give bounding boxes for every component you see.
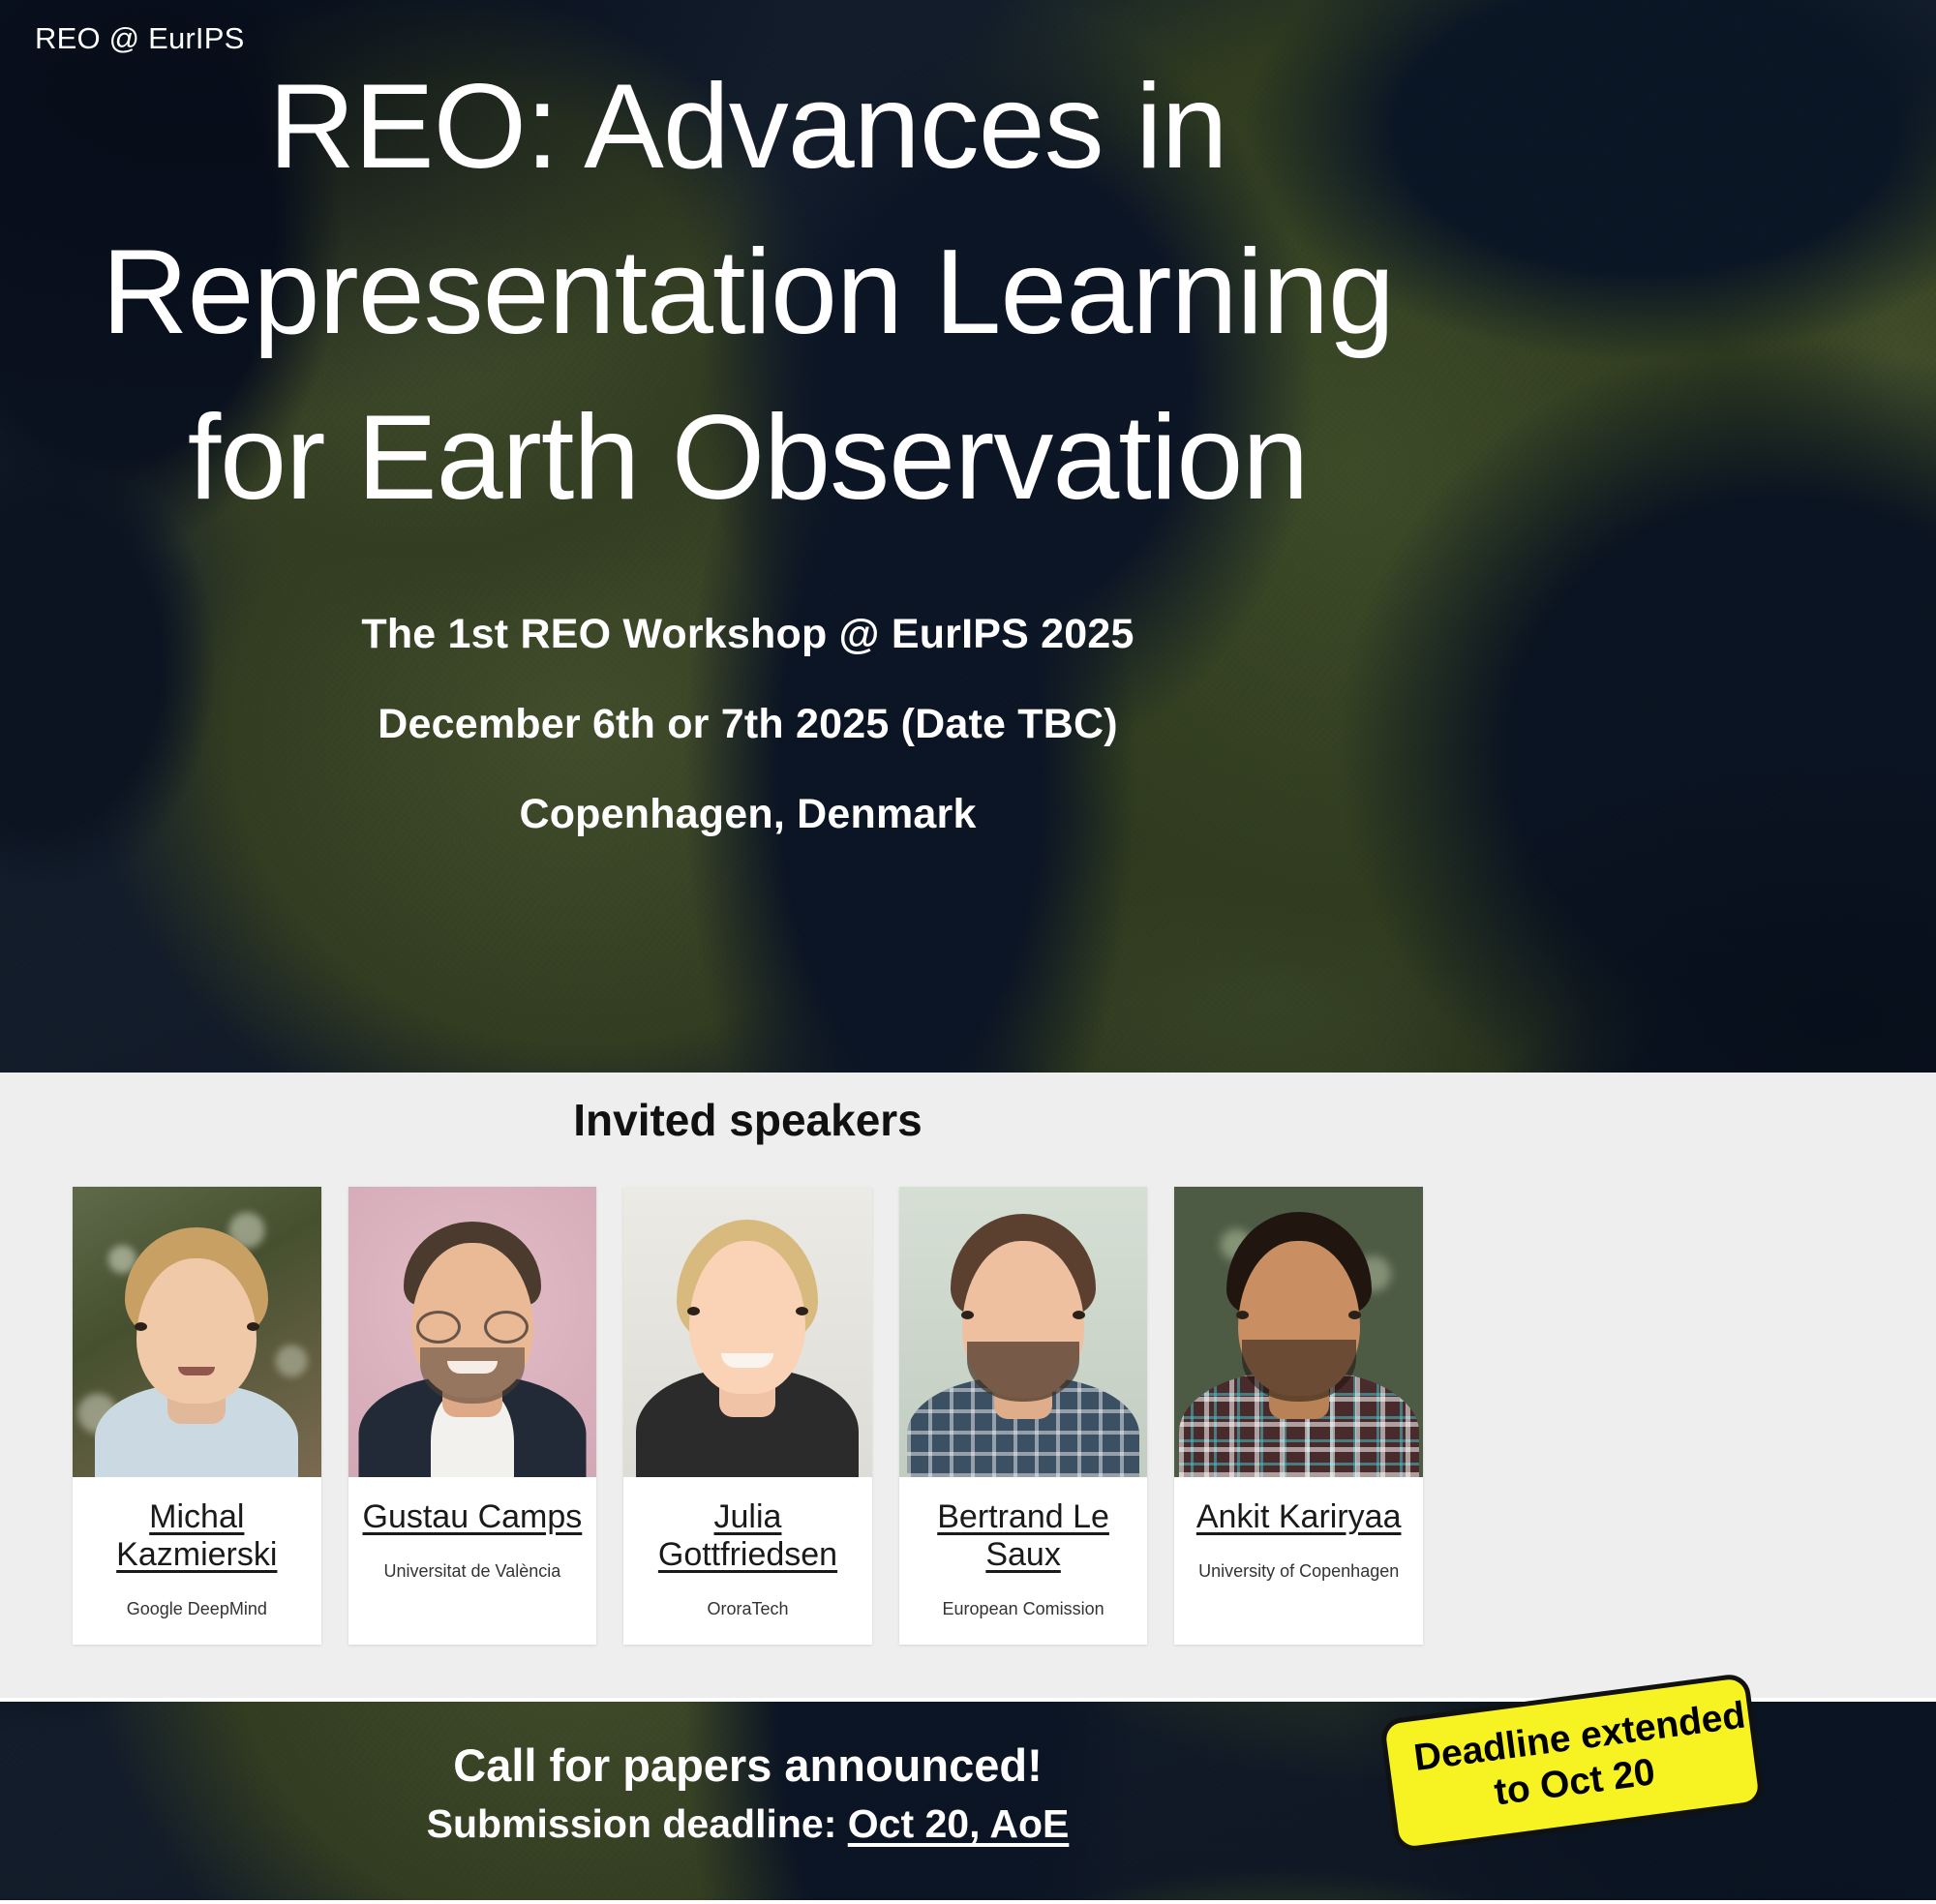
hero-content: REO: Advances in Representation Learning… — [0, 0, 1496, 838]
speakers-card-list: Michal Kazmierski Google DeepMind — [0, 1187, 1496, 1645]
cfp-deadline-line: Submission deadline: Oct 20, AoE — [0, 1801, 1496, 1847]
speaker-affiliation: European Comission — [907, 1599, 1140, 1619]
title-line-1: REO: Advances in — [268, 60, 1226, 194]
speaker-photo — [899, 1187, 1148, 1477]
speaker-name-link[interactable]: Michal Kazmierski — [80, 1498, 314, 1574]
poster-page: REO @ EurIPS REO: Advances in Representa… — [0, 0, 1936, 1904]
photo-face — [136, 1258, 257, 1404]
photo-eye-left — [961, 1311, 974, 1319]
speaker-card[interactable]: Ankit Kariryaa University of Copenhagen — [1174, 1187, 1423, 1645]
invited-speakers-section: Invited speakers Michal — [0, 1073, 1936, 1702]
speaker-name-link[interactable]: Julia Gottfriedsen — [631, 1498, 864, 1574]
photo-face — [689, 1241, 805, 1394]
photo-mouth — [721, 1353, 773, 1368]
photo-eye-right — [1348, 1311, 1361, 1319]
event-details: The 1st REO Workshop @ EurIPS 2025 Decem… — [0, 611, 1496, 838]
speaker-photo — [623, 1187, 872, 1477]
photo-mouth — [447, 1361, 498, 1374]
speaker-photo — [73, 1187, 321, 1477]
speaker-info: Michal Kazmierski Google DeepMind — [73, 1477, 321, 1645]
speaker-name-link[interactable]: Bertrand Le Saux — [907, 1498, 1140, 1574]
speaker-card[interactable]: Michal Kazmierski Google DeepMind — [73, 1187, 321, 1645]
speaker-photo — [1174, 1187, 1423, 1477]
hero-section: REO @ EurIPS REO: Advances in Representa… — [0, 0, 1936, 1073]
event-location: Copenhagen, Denmark — [0, 791, 1496, 838]
page-title: REO: Advances in Representation Learning… — [0, 45, 1496, 541]
title-line-3: for Earth Observation — [188, 391, 1309, 525]
cfp-deadline-link[interactable]: Oct 20, AoE — [848, 1801, 1070, 1846]
event-date: December 6th or 7th 2025 (Date TBC) — [0, 701, 1496, 748]
photo-mouth — [178, 1367, 215, 1375]
speakers-content: Invited speakers Michal — [0, 1073, 1496, 1645]
photo-eye-right — [796, 1307, 808, 1315]
speaker-info: Julia Gottfriedsen OroraTech — [623, 1477, 872, 1645]
photo-eye-right — [247, 1322, 259, 1331]
cfp-deadline-label: Submission deadline: — [427, 1801, 848, 1846]
speaker-photo — [348, 1187, 597, 1477]
cfp-content: Call for papers announced! Submission de… — [0, 1702, 1496, 1847]
speaker-affiliation: OroraTech — [631, 1599, 864, 1619]
speaker-affiliation: Universitat de València — [356, 1561, 590, 1582]
event-name: The 1st REO Workshop @ EurIPS 2025 — [0, 611, 1496, 658]
speaker-name-link[interactable]: Gustau Camps — [363, 1498, 583, 1536]
cfp-announcement: Call for papers announced! — [0, 1738, 1496, 1792]
speaker-affiliation: University of Copenhagen — [1182, 1561, 1415, 1582]
speaker-info: Bertrand Le Saux European Comission — [899, 1477, 1148, 1645]
speaker-name-link[interactable]: Ankit Kariryaa — [1196, 1498, 1402, 1536]
title-line-2: Representation Learning — [102, 226, 1394, 359]
speaker-affiliation: Google DeepMind — [80, 1599, 314, 1619]
photo-glasses-icon — [416, 1311, 529, 1344]
brand-label: REO @ EurIPS — [35, 21, 244, 56]
speaker-card[interactable]: Julia Gottfriedsen OroraTech — [623, 1187, 872, 1645]
speaker-card[interactable]: Bertrand Le Saux European Comission — [899, 1187, 1148, 1645]
speaker-info: Ankit Kariryaa University of Copenhagen — [1174, 1477, 1423, 1607]
photo-eye-left — [135, 1322, 147, 1331]
speakers-heading: Invited speakers — [0, 1094, 1496, 1146]
speaker-info: Gustau Camps Universitat de València — [348, 1477, 597, 1607]
speaker-card[interactable]: Gustau Camps Universitat de València — [348, 1187, 597, 1645]
